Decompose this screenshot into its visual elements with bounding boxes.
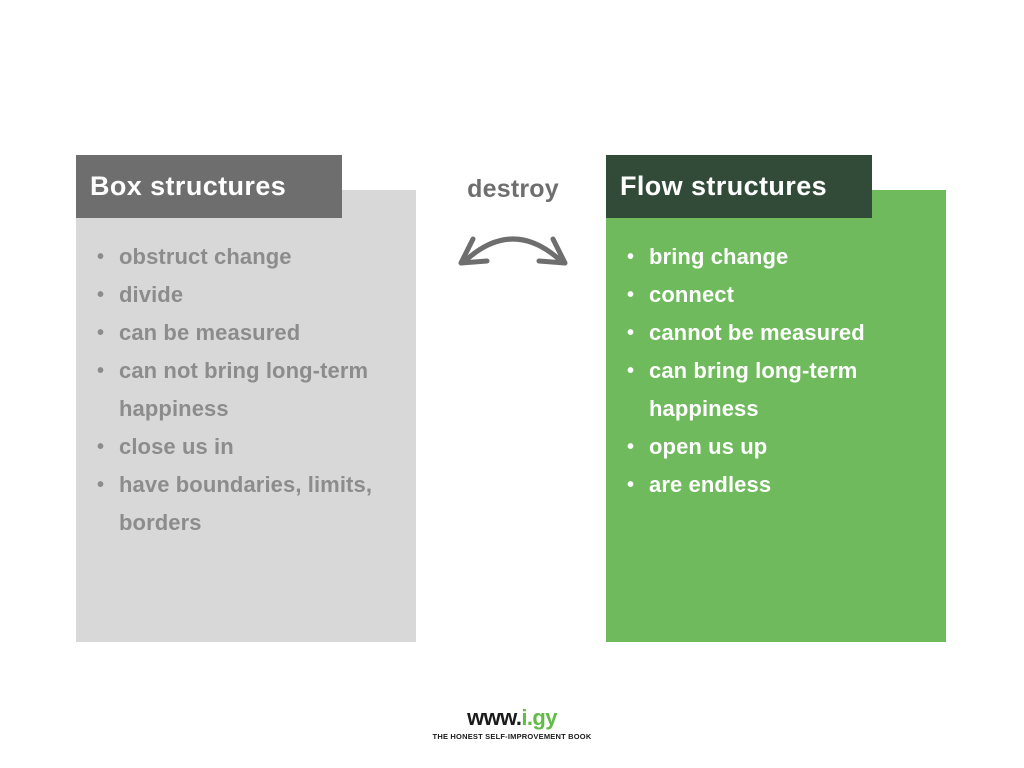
- footer-wordmark: www.i.gy: [0, 706, 1024, 730]
- box-structures-list: obstruct change divide can be measured c…: [95, 238, 405, 542]
- box-structures-title: Box structures: [76, 171, 286, 202]
- list-item: bring change: [625, 238, 935, 276]
- slide-canvas: Box structures obstruct change divide ca…: [0, 0, 1024, 768]
- flow-structures-title: Flow structures: [606, 171, 827, 202]
- flow-structures-list: bring change connect cannot be measured …: [625, 238, 935, 504]
- list-item: have boundaries, limits, borders: [95, 466, 405, 542]
- list-item: open us up: [625, 428, 935, 466]
- list-item: can not bring long-term happiness: [95, 352, 405, 428]
- list-item: divide: [95, 276, 405, 314]
- list-item: cannot be measured: [625, 314, 935, 352]
- list-item: obstruct change: [95, 238, 405, 276]
- connector-group: destroy: [443, 175, 583, 270]
- list-item: can bring long-term happiness: [625, 352, 935, 428]
- footer-logo: www.i.gy THE HONEST SELF-IMPROVEMENT BOO…: [0, 706, 1024, 742]
- flow-structures-header: Flow structures: [606, 155, 872, 218]
- footer-wordmark-prefix: www.: [467, 705, 521, 730]
- list-item: close us in: [95, 428, 405, 466]
- footer-tagline: THE HONEST SELF-IMPROVEMENT BOOK: [0, 731, 1024, 742]
- list-item: are endless: [625, 466, 935, 504]
- connector-label: destroy: [443, 175, 583, 204]
- double-headed-curved-arrow-icon: [443, 213, 583, 270]
- footer-wordmark-suffix: .gy: [527, 705, 557, 730]
- box-structures-header: Box structures: [76, 155, 342, 218]
- list-item: can be measured: [95, 314, 405, 352]
- list-item: connect: [625, 276, 935, 314]
